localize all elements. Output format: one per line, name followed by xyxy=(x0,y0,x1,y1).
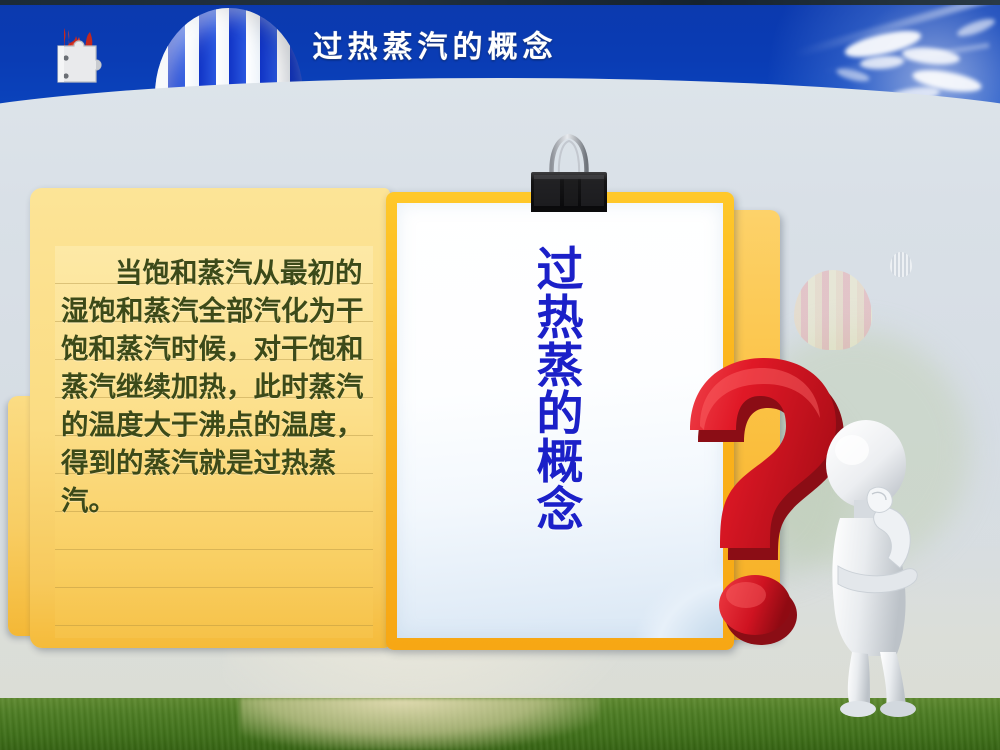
puzzle-piece-flame-icon xyxy=(46,22,112,86)
hot-air-balloon-icon xyxy=(794,270,872,365)
page-title: 过热蒸汽的概念 xyxy=(0,22,1000,66)
presentation-slide: 过热蒸汽的概念 当饱和蒸汽从最初的湿饱和蒸汽全部汽化为干饱和蒸汽时候，对干饱和蒸… xyxy=(0,0,1000,750)
balloon-envelope xyxy=(890,252,912,277)
vertical-title-char: 蒸 xyxy=(537,343,584,391)
window-top-edge xyxy=(0,0,1000,5)
balloon-envelope xyxy=(794,270,872,350)
vertical-title-char: 过 xyxy=(537,247,584,295)
body-paragraph: 当饱和蒸汽从最初的湿饱和蒸汽全部汽化为干饱和蒸汽时候，对干饱和蒸汽继续加热，此时… xyxy=(55,246,373,520)
vertical-title-char: 热 xyxy=(537,295,584,343)
sand-patch xyxy=(240,698,600,750)
thinking-person-icon xyxy=(800,418,950,718)
hot-air-balloon-icon xyxy=(890,252,912,282)
note-paper: 当饱和蒸汽从最初的湿饱和蒸汽全部汽化为干饱和蒸汽时候，对干饱和蒸汽继续加热，此时… xyxy=(55,246,373,638)
vertical-title-char: 概 xyxy=(537,439,584,487)
vertical-title-char: 念 xyxy=(537,487,584,535)
binder-clip-icon xyxy=(515,126,623,216)
vertical-title-char: 的 xyxy=(537,391,584,439)
